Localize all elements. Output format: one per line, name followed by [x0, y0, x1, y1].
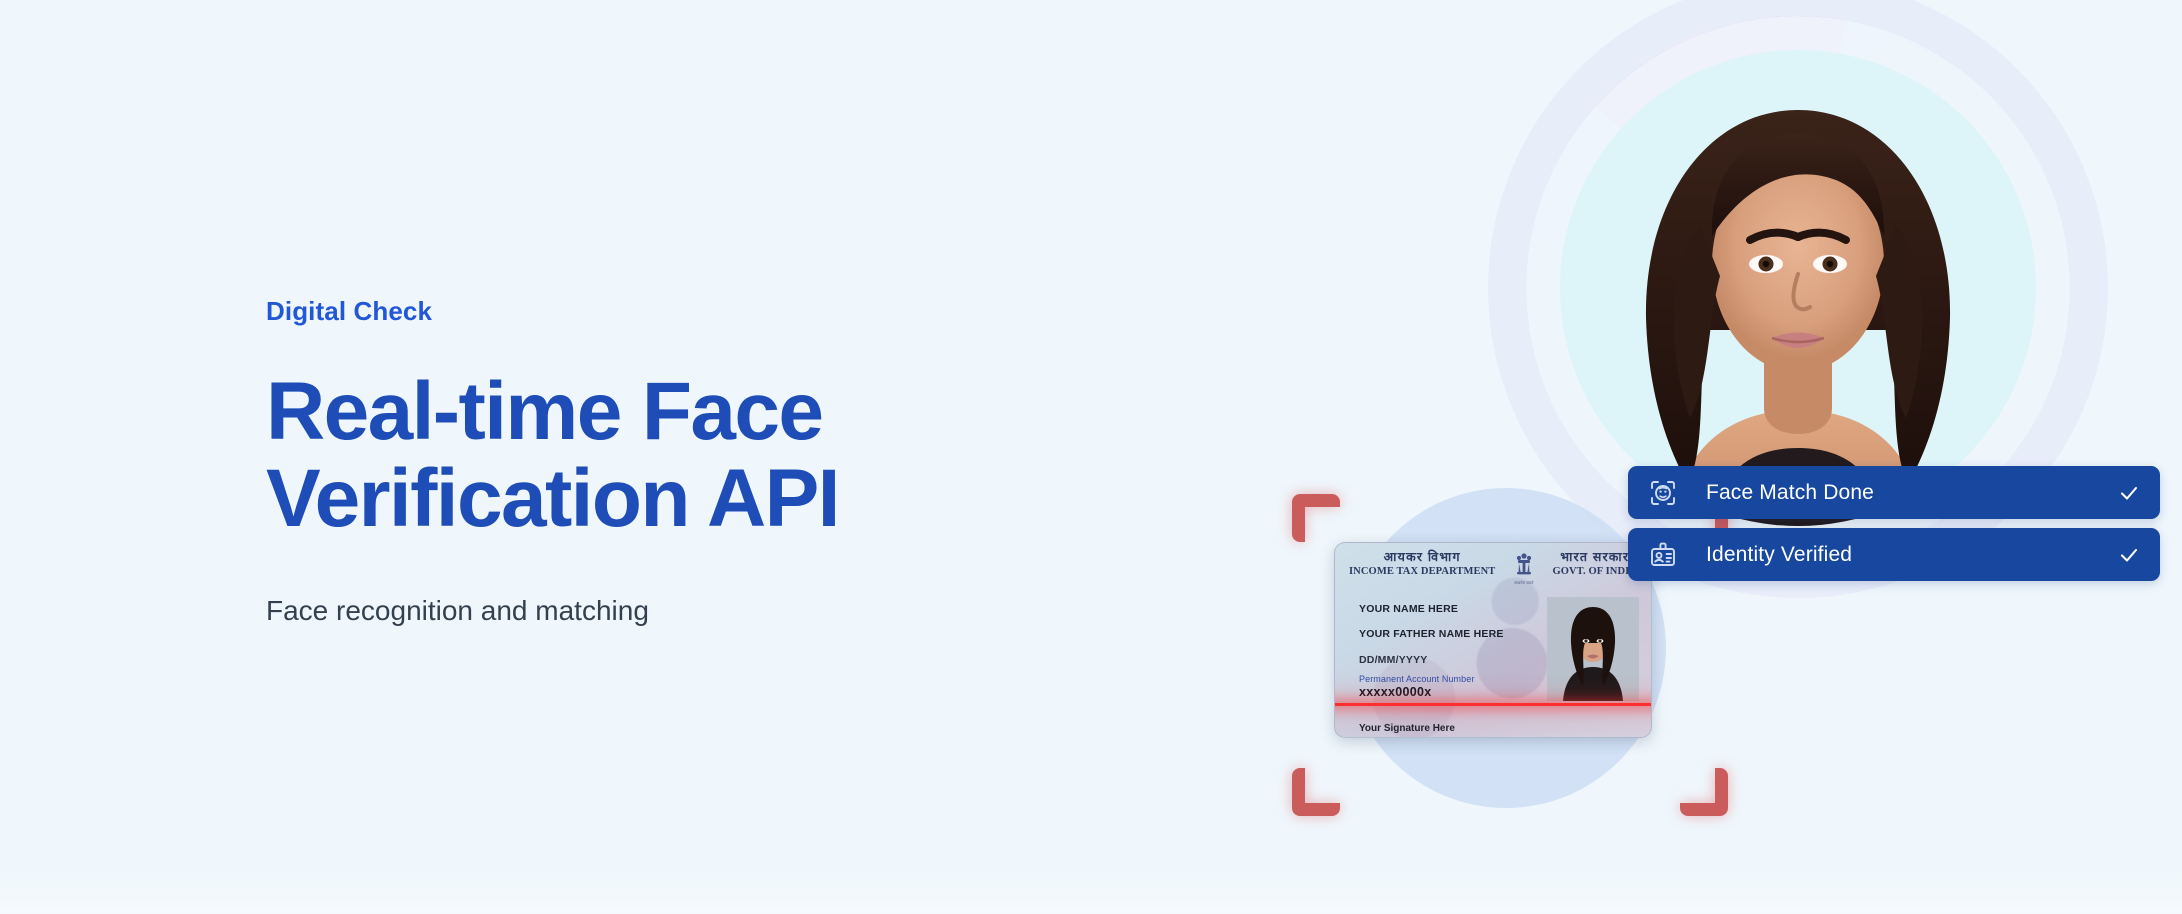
- card-pan-label: Permanent Account Number: [1359, 674, 1545, 684]
- card-department-english: INCOME TAX DEPARTMENT: [1349, 566, 1495, 577]
- card-fields: YOUR NAME HERE YOUR FATHER NAME HERE DD/…: [1359, 603, 1545, 738]
- card-father-name: YOUR FATHER NAME HERE: [1359, 628, 1545, 640]
- emblem-caption: सत्यमेव जयते: [1514, 581, 1533, 586]
- card-govt-hindi: भारत सरकार: [1552, 550, 1637, 566]
- scan-bracket-bottom-left-icon: [1292, 768, 1340, 816]
- card-name: YOUR NAME HERE: [1359, 603, 1545, 615]
- card-department-hindi: आयकर विभाग: [1349, 550, 1495, 566]
- india-emblem-icon: सत्यमेव जयते: [1513, 551, 1535, 591]
- card-header: आयकर विभाग INCOME TAX DEPARTMENT: [1335, 550, 1651, 598]
- status-badge-label: Face Match Done: [1706, 481, 1874, 505]
- scan-bracket-top-left-icon: [1292, 494, 1340, 542]
- page-title: Real-time Face Verification API: [266, 369, 1106, 543]
- card-photo: [1547, 597, 1639, 701]
- hero-copy: Digital Check Real-time Face Verificatio…: [266, 296, 1106, 630]
- scan-line: [1334, 703, 1652, 706]
- status-badge[interactable]: Face Match Done: [1628, 466, 2160, 519]
- status-badge[interactable]: Identity Verified: [1628, 528, 2160, 581]
- avatar: [1560, 50, 2036, 526]
- card-govt: भारत सरकार GOVT. OF INDIA: [1552, 550, 1637, 577]
- pan-card: आयकर विभाग INCOME TAX DEPARTMENT: [1334, 542, 1652, 738]
- hero-eyebrow: Digital Check: [266, 296, 1106, 327]
- hero-subtitle: Face recognition and matching: [266, 591, 1106, 630]
- status-badge-label: Identity Verified: [1706, 543, 1852, 567]
- scan-bracket-bottom-right-icon: [1680, 768, 1728, 816]
- card-signature-text: Your Signature Here: [1359, 723, 1545, 734]
- id-card-icon: [1650, 542, 1676, 568]
- face-scan-icon: [1650, 480, 1676, 506]
- check-icon: [2118, 544, 2140, 566]
- card-govt-english: GOVT. OF INDIA: [1552, 566, 1637, 577]
- headline-line-2: Verification API: [266, 453, 839, 544]
- check-icon: [2118, 482, 2140, 504]
- card-dob: DD/MM/YYYY: [1359, 654, 1545, 666]
- card-department: आयकर विभाग INCOME TAX DEPARTMENT: [1349, 550, 1495, 577]
- verification-illustration: आयकर विभाग INCOME TAX DEPARTMENT: [1240, 0, 2182, 914]
- card-pan-number: xxxxx0000x: [1359, 685, 1545, 699]
- headline-line-1: Real-time Face: [266, 366, 822, 457]
- status-badge-list: Face Match Done: [1628, 466, 2160, 581]
